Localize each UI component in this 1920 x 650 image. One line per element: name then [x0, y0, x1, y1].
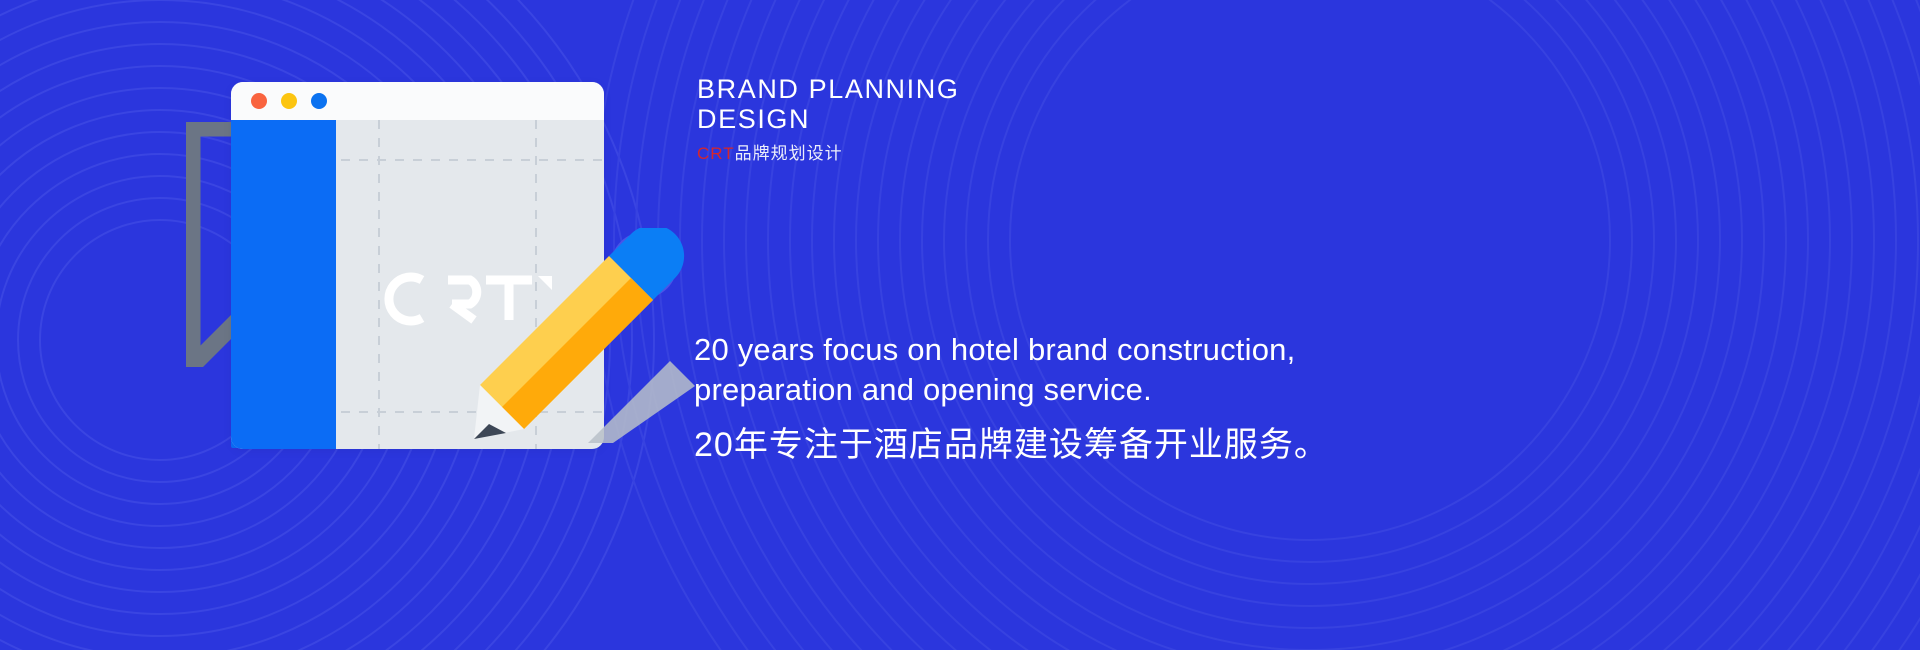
design-illustration [0, 0, 700, 650]
brand-banner: BRAND PLANNING DESIGN CRT品牌规划设计 20 years… [0, 0, 1920, 650]
close-dot-icon[interactable] [251, 93, 267, 109]
tagline-block: 20 years focus on hotel brand constructi… [694, 330, 1594, 466]
tagline-en-line-1: 20 years focus on hotel brand constructi… [694, 330, 1594, 370]
minimize-dot-icon[interactable] [281, 93, 297, 109]
headline-subtitle: CRT品牌规划设计 [697, 143, 1457, 165]
maximize-dot-icon[interactable] [311, 93, 327, 109]
tagline-cn: 20年专注于酒店品牌建设筹备开业服务。 [694, 424, 1594, 466]
subtitle-brand: CRT [697, 144, 735, 163]
headline-block: BRAND PLANNING DESIGN CRT品牌规划设计 [697, 74, 1457, 165]
subtitle-text: 品牌规划设计 [735, 144, 843, 163]
pencil-icon [470, 228, 695, 443]
headline-line-1: BRAND PLANNING [697, 74, 1457, 104]
tagline-en-line-2: preparation and opening service. [694, 370, 1594, 410]
headline-line-2: DESIGN [697, 104, 1457, 134]
window-titlebar [231, 82, 604, 120]
